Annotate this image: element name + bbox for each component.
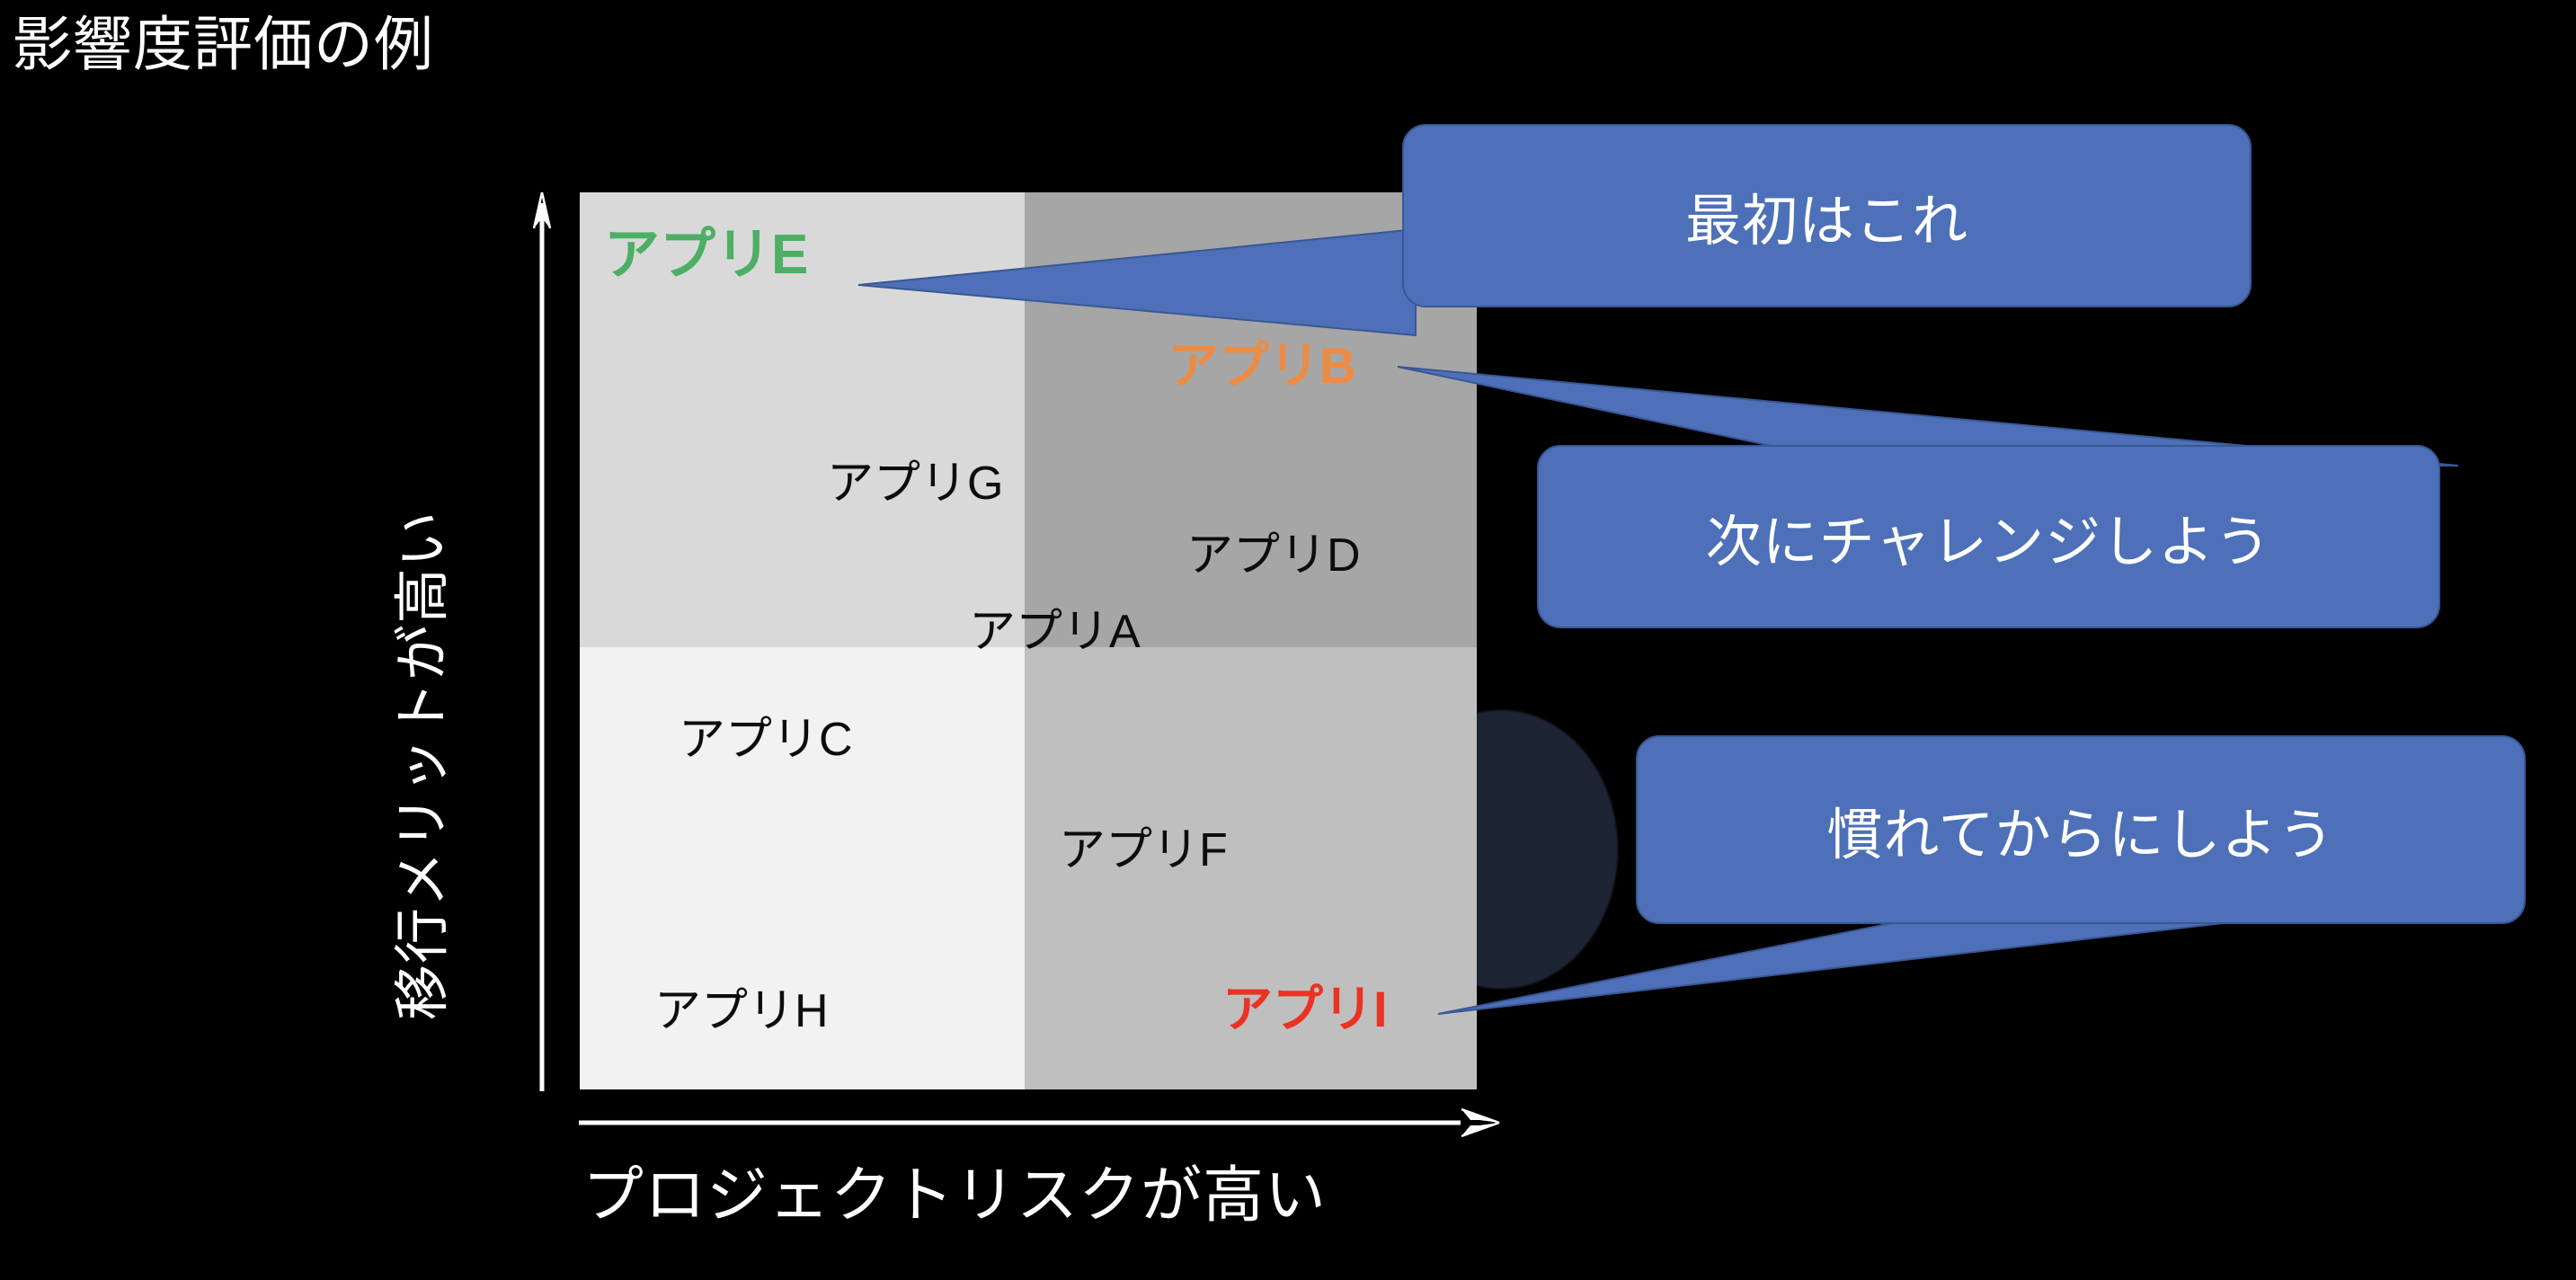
app-label-f: アプリF: [1059, 812, 1228, 879]
slide-canvas: 影響度評価の例 移行メリットが高い プロジェクトリスクが高い アプリE アプリG…: [0, 0, 2576, 1280]
app-label-a: アプリA: [969, 593, 1141, 661]
x-axis-label: プロジェクトリスクが高い: [582, 1145, 1327, 1234]
y-axis-label: 移行メリットが高い: [377, 274, 466, 1020]
app-label-i: アプリI: [1222, 969, 1388, 1042]
callout-text-next: 次にチャレンジしよう: [1706, 496, 2271, 577]
y-axis-arrow-icon: [532, 191, 552, 1091]
app-label-h: アプリH: [654, 973, 829, 1040]
app-label-b: アプリB: [1168, 325, 1355, 398]
app-label-d: アプリD: [1186, 517, 1361, 584]
app-label-g: アプリG: [827, 445, 1003, 512]
page-title: 影響度評価の例: [13, 11, 434, 79]
callout-bubble-next[interactable]: 次にチャレンジしよう: [1537, 445, 2440, 628]
x-axis-arrow-icon: [575, 1107, 1501, 1138]
callout-bubble-first[interactable]: 最初はこれ: [1402, 124, 2252, 307]
callout-text-later: 慣れてからにしよう: [1826, 789, 2334, 870]
callout-text-first: 最初はこれ: [1685, 175, 1968, 256]
callout-bubble-later[interactable]: 慣れてからにしよう: [1636, 735, 2526, 924]
app-label-c: アプリC: [679, 701, 853, 769]
app-label-e: アプリE: [604, 209, 808, 289]
